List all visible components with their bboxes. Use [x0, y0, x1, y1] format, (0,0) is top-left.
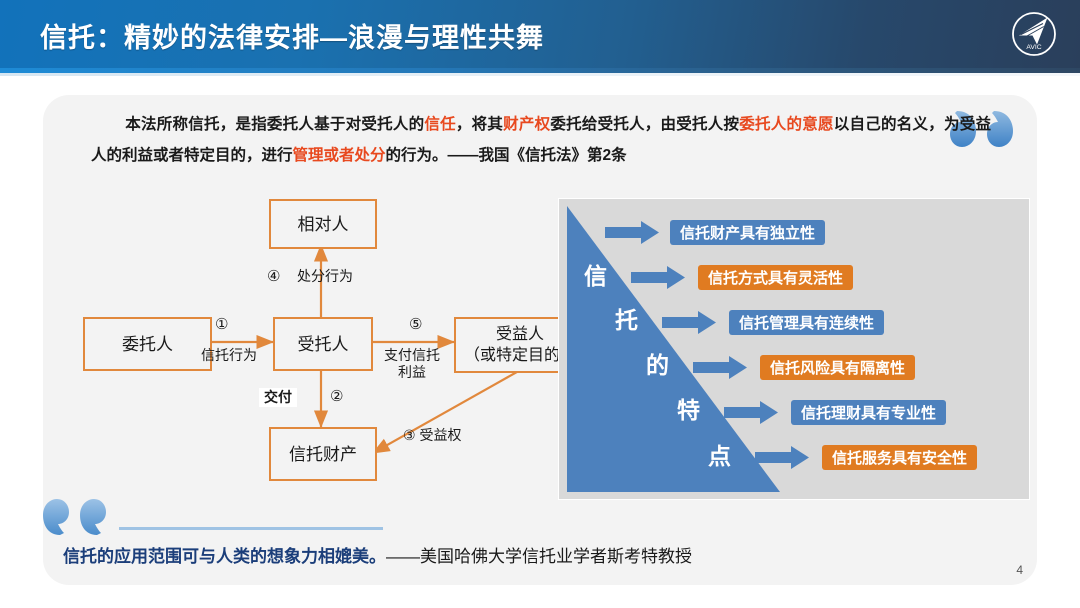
flow-box-trust-property-label: 信托财产 [289, 444, 357, 465]
flow-box-trustee-label: 受托人 [298, 334, 349, 355]
trust-triangle-shape [567, 206, 780, 492]
feature-label-0-text: 信托财产具有独立性 [680, 222, 815, 243]
triangle-char-1: 托 [615, 301, 638, 335]
flow-connector-2-number: ② [330, 387, 343, 405]
flow-box-trust-property[interactable]: 信托财产 [269, 427, 377, 481]
quote-mark-icon-bottom [43, 498, 107, 538]
flow-connector-5-number: ⑤ [409, 315, 422, 333]
feature-label-5[interactable]: 信托服务具有安全性 [822, 445, 977, 470]
flow-box-settlor-label: 委托人 [122, 334, 173, 355]
page-number: 4 [1016, 563, 1023, 577]
law-seg-2: ，将其 [456, 116, 503, 133]
feature-label-2-text: 信托管理具有连续性 [739, 312, 874, 333]
feature-label-1-text: 信托方式具有灵活性 [708, 267, 843, 288]
flow-connector-3-label: ③ 受益权 [403, 427, 513, 444]
feature-label-4-text: 信托理财具有专业性 [801, 402, 936, 423]
content-card: 本法所称信托，是指委托人基于对受托人的信任，将其财产权委托给受托人，由受托人按委… [43, 95, 1037, 585]
feature-label-5-text: 信托服务具有安全性 [832, 447, 967, 468]
law-paragraph: 本法所称信托，是指委托人基于对受托人的信任，将其财产权委托给受托人，由受托人按委… [91, 109, 991, 171]
flow-connector-4-number: ④ [267, 267, 280, 285]
footer-quote-attribution: ——美国哈佛大学信托业学者斯考特教授 [386, 547, 692, 566]
feature-arrow-icon-4 [724, 401, 778, 424]
flow-connector-5-label-line1: 支付信托 [373, 347, 451, 364]
flow-box-beneficiary-label-line1: 受益人 [496, 324, 544, 345]
triangle-char-2: 的 [646, 346, 669, 380]
avic-logo-icon: AVIC [1010, 10, 1058, 58]
triangle-char-4: 点 [708, 437, 731, 471]
footer-quote-strong: 信托的应用范围可与人类的想象力相媲美。 [63, 547, 386, 566]
trust-features-panel: 信 托 的 特 点 信托财产具有独立性 信托方式具有灵活性 [558, 198, 1030, 500]
feature-label-4[interactable]: 信托理财具有专业性 [791, 400, 946, 425]
feature-arrow-icon-2 [662, 311, 716, 334]
slide-header: 信托：精妙的法律安排—浪漫与理性共舞 AVIC [0, 0, 1080, 68]
flow-connector-1-label: 信托行为 [191, 347, 267, 364]
law-seg-1-highlight: 信任 [424, 116, 456, 133]
law-seg-4: 委托给受托人，由受托人按 [550, 116, 739, 133]
law-seg-5-highlight: 委托人的意愿 [739, 116, 833, 133]
flow-connector-5-label-line2: 利益 [373, 364, 451, 381]
law-seg-8: 的行为。——我国《信托法》第2条 [386, 147, 627, 164]
triangle-char-3: 特 [677, 391, 700, 425]
footer-quote: 信托的应用范围可与人类的想象力相媲美。——美国哈佛大学信托业学者斯考特教授 [63, 545, 1003, 569]
law-seg-0: 本法所称信托，是指委托人基于对受托人的 [125, 116, 424, 133]
flow-box-counterparty[interactable]: 相对人 [269, 199, 377, 249]
feature-label-2[interactable]: 信托管理具有连续性 [729, 310, 884, 335]
trust-flow-diagram: 委托人 受托人 相对人 信托财产 受益人 （或特定目的） ① 信托行为 ② 交付… [43, 195, 563, 495]
feature-arrow-icon-5 [755, 446, 809, 469]
feature-label-3[interactable]: 信托风险具有隔离性 [760, 355, 915, 380]
law-seg-3-highlight: 财产权 [503, 116, 550, 133]
feature-label-0[interactable]: 信托财产具有独立性 [670, 220, 825, 245]
quote-divider-rule [119, 527, 383, 530]
flow-connector-4-label: 处分行为 [297, 268, 387, 285]
flow-connector-1-number: ① [215, 315, 228, 333]
triangle-char-0: 信 [584, 257, 607, 291]
feature-arrow-icon-3 [693, 356, 747, 379]
header-underline-light [0, 73, 1080, 76]
law-seg-7-highlight: 管理或者处分 [293, 147, 386, 164]
feature-label-3-text: 信托风险具有隔离性 [770, 357, 905, 378]
avic-logo-text: AVIC [1026, 44, 1041, 51]
feature-arrow-icon-1 [631, 266, 685, 289]
flow-box-trustee[interactable]: 受托人 [273, 317, 373, 371]
feature-arrow-icon-0 [605, 221, 659, 244]
flow-connector-2-label: 交付 [259, 388, 297, 407]
page-title: 信托：精妙的法律安排—浪漫与理性共舞 [40, 16, 544, 55]
flow-box-counterparty-label: 相对人 [298, 214, 349, 235]
feature-label-1[interactable]: 信托方式具有灵活性 [698, 265, 853, 290]
